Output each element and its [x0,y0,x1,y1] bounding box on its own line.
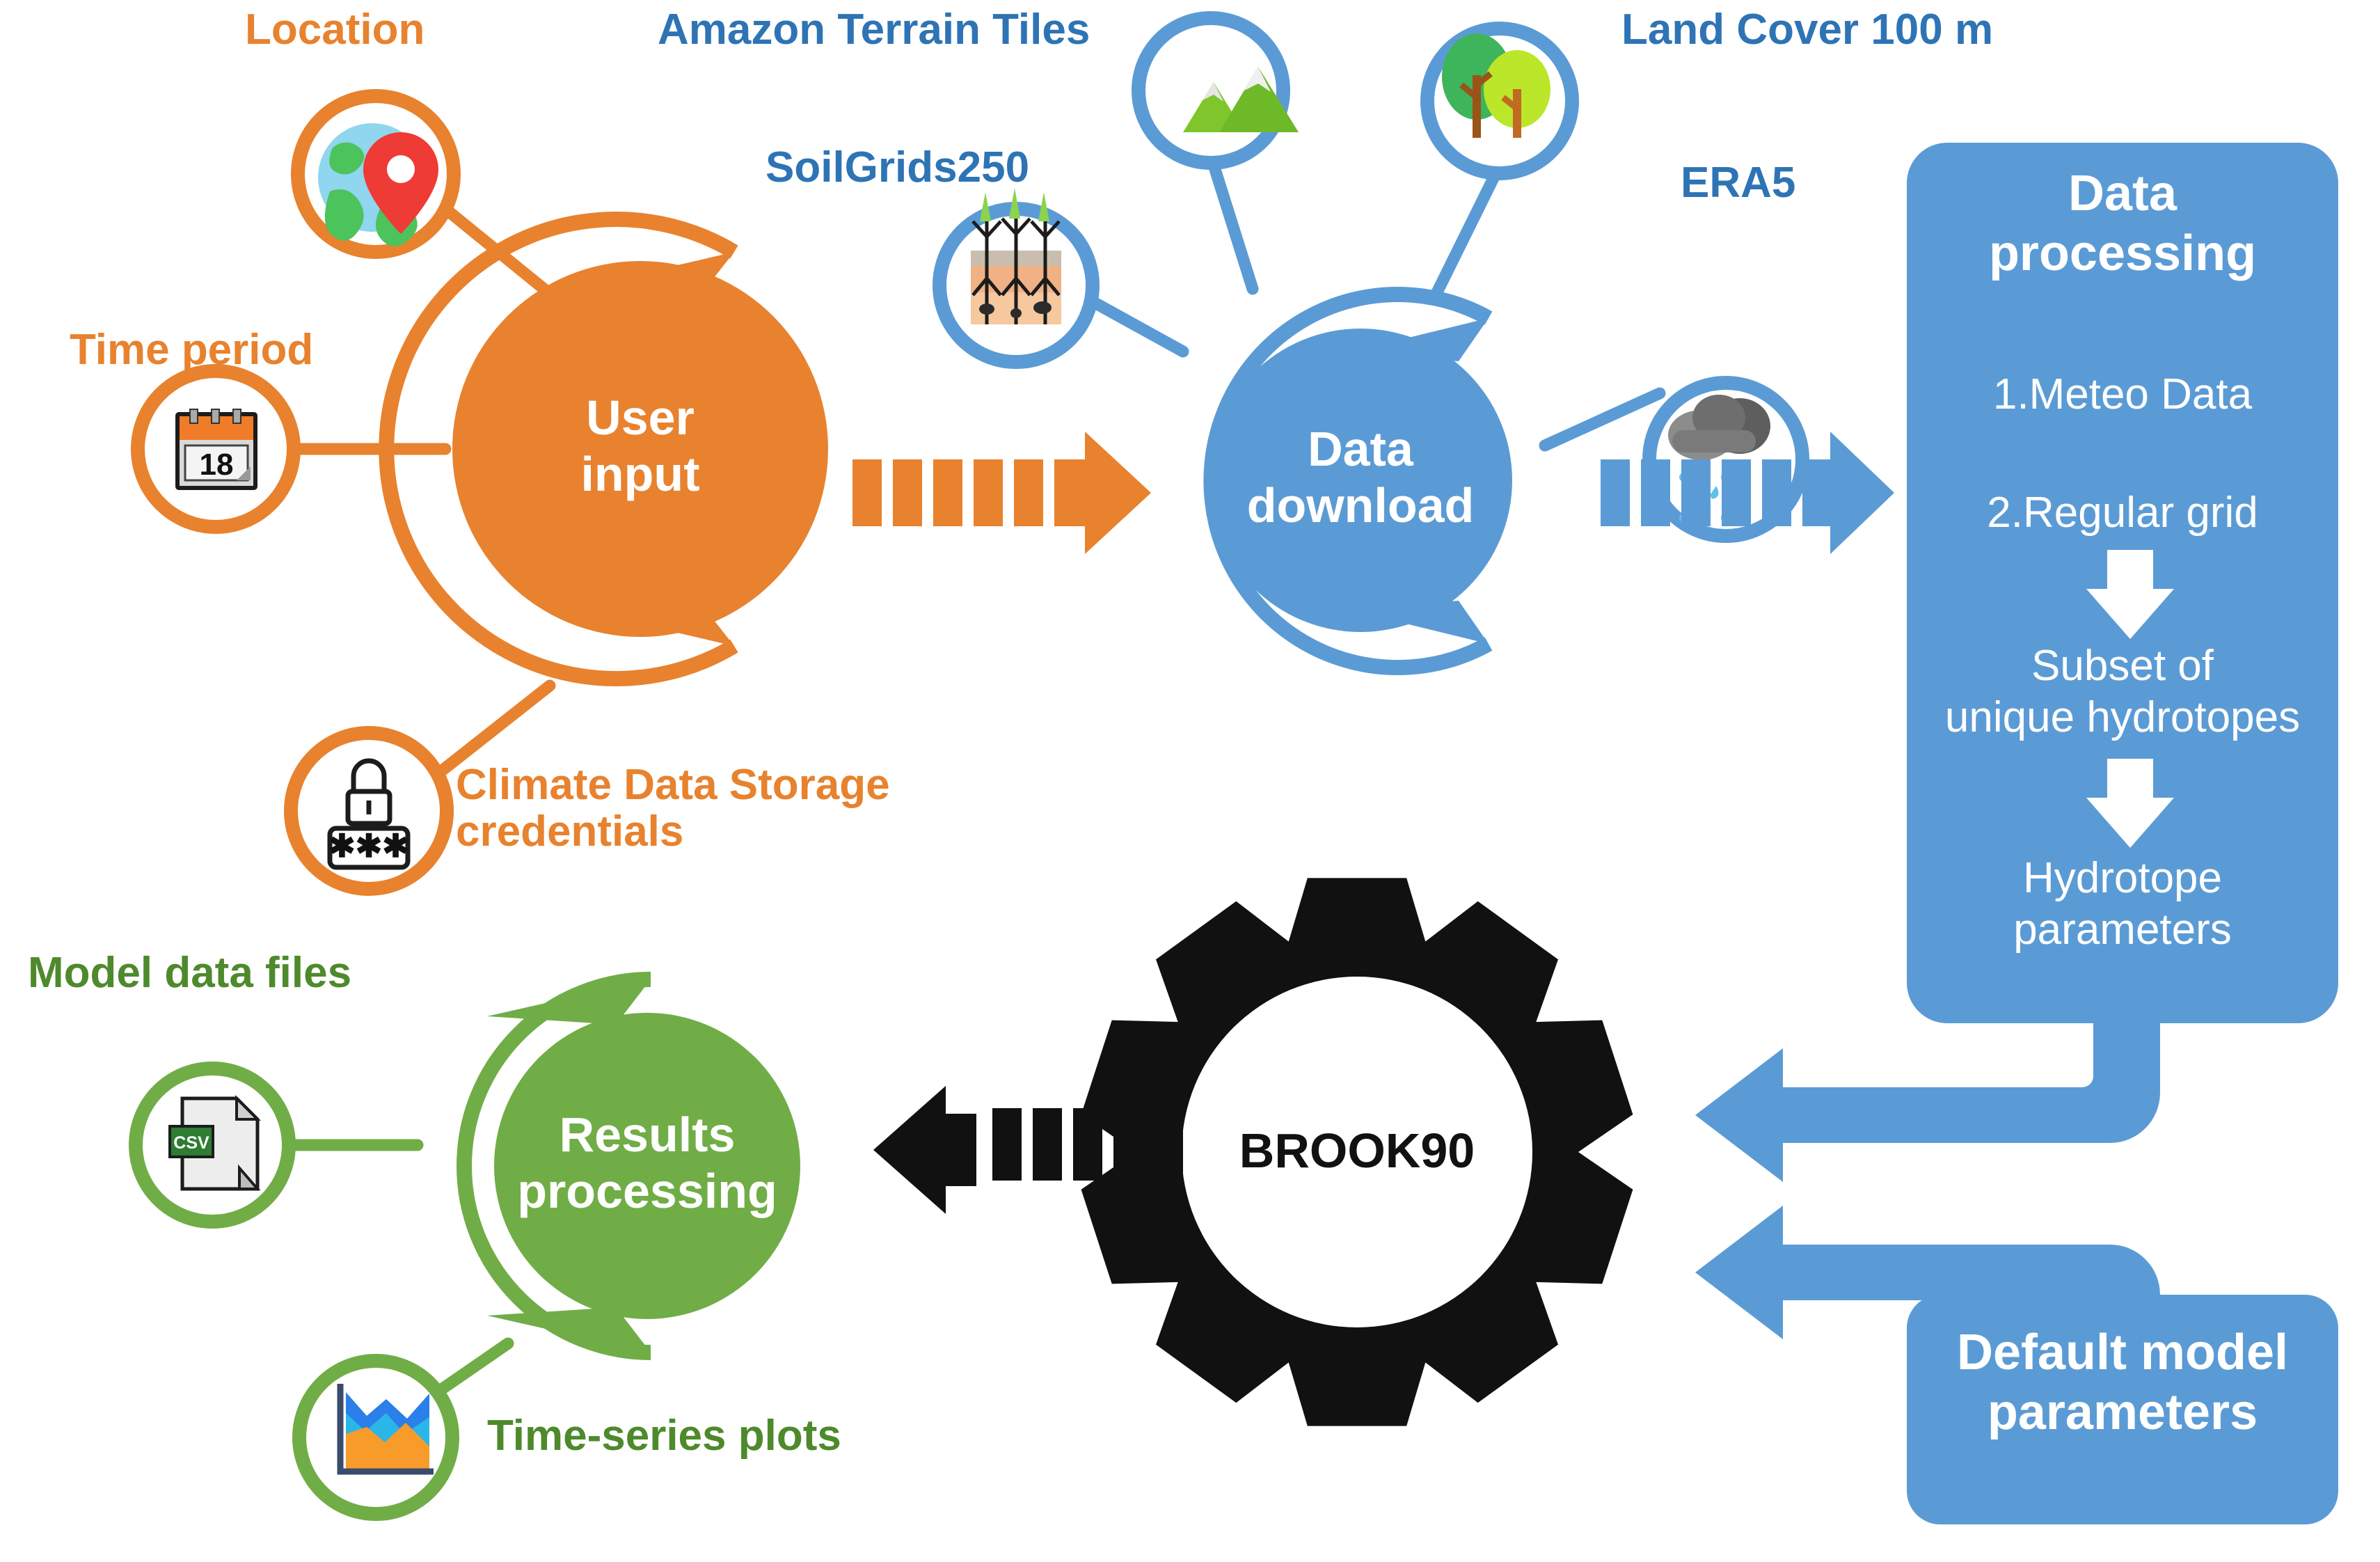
data-download-title: Data download [1193,421,1528,534]
satellite-model-data-files[interactable]: CSV [136,1068,289,1222]
svg-text:18: 18 [200,448,234,482]
satellite-soilgrids250[interactable] [939,188,1093,362]
user-input-title: User input [501,390,779,503]
satellite-time-period[interactable]: 18 [138,371,294,527]
arrow-user-to-download [852,432,1151,554]
workflow-diagram: 18 ✱✱✱ [0,0,2380,1562]
satellite-time-series-plots[interactable] [299,1361,452,1514]
calendar-icon: 18 [175,409,257,490]
label-time-series-plots: Time-series plots [487,1413,841,1460]
svg-text:CSV: CSV [173,1133,209,1153]
connector-processing-to-brook90 [1695,1016,2160,1182]
data-processing-step-4: Hydrotope parameters [1921,853,2324,956]
csv-file-icon: CSV [170,1098,257,1189]
label-model-data-files: Model data files [28,950,351,997]
label-land-cover: Land Cover 100 m [1621,7,1993,54]
satellite-credentials[interactable]: ✱✱✱ [291,733,447,889]
label-soilgrids250: SoilGrids250 [765,145,1029,191]
svg-text:✱✱✱: ✱✱✱ [328,828,409,864]
satellite-amazon-terrain-tiles[interactable] [1139,18,1299,163]
label-era5: ERA5 [1681,160,1795,207]
satellite-land-cover[interactable] [1427,29,1572,173]
data-processing-step-2: 2.Regular grid [1921,487,2324,539]
data-processing-step-3: Subset of unique hydrotopes [1907,640,2338,744]
default-params-title: Default model parameters [1921,1323,2324,1443]
label-amazon-terrain-tiles: Amazon Terrain Tiles [658,7,1090,54]
brook90-label: BROOK90 [1183,1123,1531,1178]
data-processing-title: Data processing [1921,164,2324,284]
results-processing-title: Results processing [480,1107,814,1220]
data-processing-step-1: 1.Meteo Data [1921,369,2324,420]
label-location: Location [245,7,425,54]
label-credentials: Climate Data Storage credentials [456,762,890,855]
satellite-location[interactable] [298,96,454,252]
label-time-period: Time period [70,327,313,374]
